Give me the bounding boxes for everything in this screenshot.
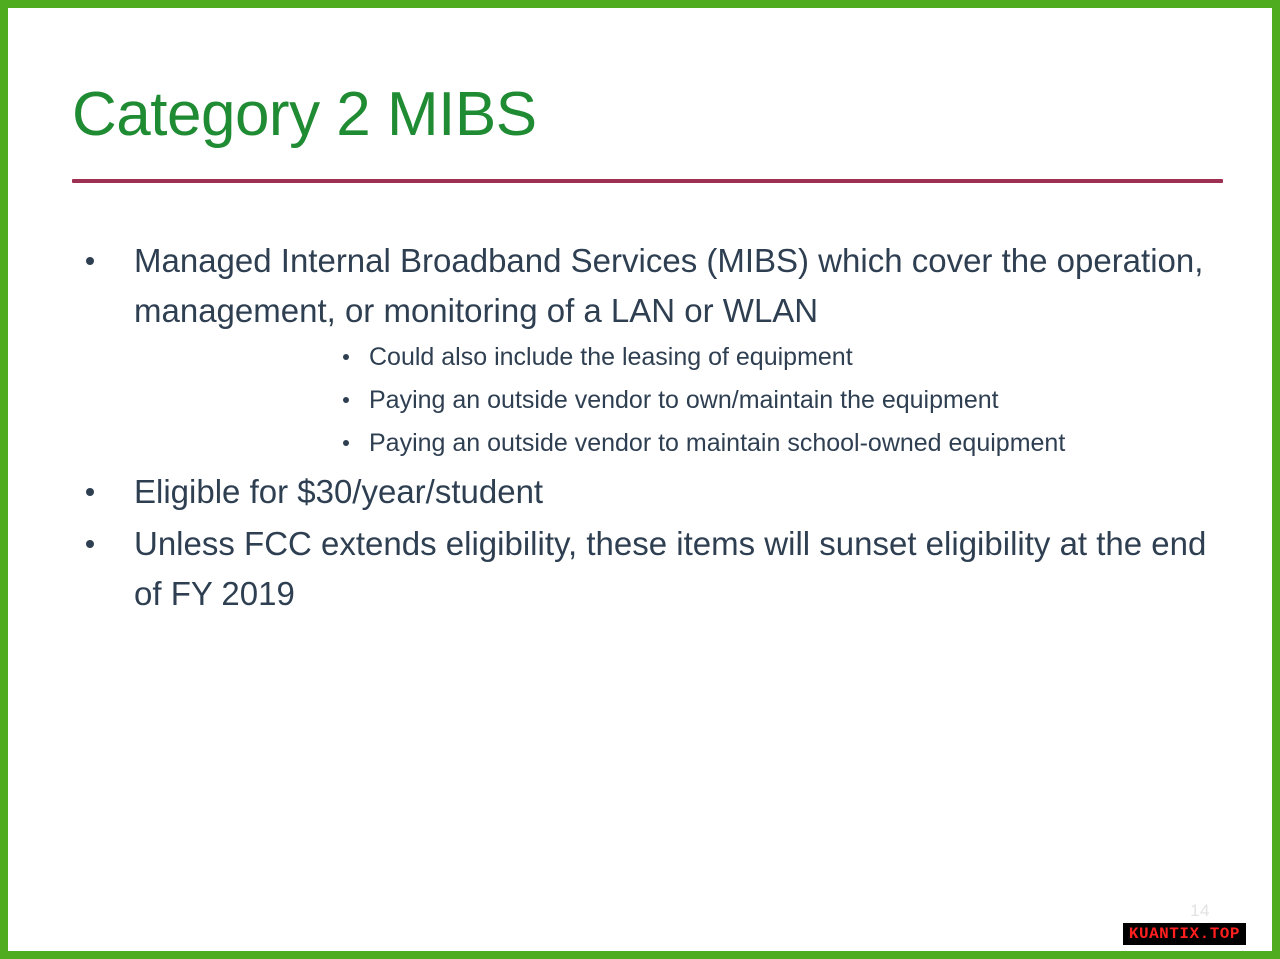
sub-bullet-text: Paying an outside vendor to maintain sch… <box>369 429 1065 457</box>
list-item: Managed Internal Broadband Services (MIB… <box>8 236 1272 465</box>
title-block: Category 2 MIBS <box>72 82 1224 147</box>
bullet-dot-icon <box>343 397 349 403</box>
bullet-dot-icon <box>343 440 349 446</box>
bullet-dot-icon <box>86 257 94 265</box>
slide-canvas: Category 2 MIBS Managed Internal Broadba… <box>8 8 1272 951</box>
page-number: 14 <box>1190 901 1210 921</box>
slide: Category 2 MIBS Managed Internal Broadba… <box>0 0 1280 959</box>
bullet-text: Managed Internal Broadband Services (MIB… <box>134 236 1272 336</box>
bullet-dot-icon <box>86 488 94 496</box>
page-title: Category 2 MIBS <box>72 82 1224 147</box>
title-divider <box>72 179 1223 183</box>
list-item: Paying an outside vendor to own/maintain… <box>134 379 1272 422</box>
bullet-text: Unless FCC extends eligibility, these it… <box>134 519 1272 619</box>
sub-bullet-text: Paying an outside vendor to own/maintain… <box>369 386 999 414</box>
sub-bullet-text: Could also include the leasing of equipm… <box>369 343 853 371</box>
bullet-text: Eligible for $30/year/student <box>134 467 1272 517</box>
sub-bullet-list: Could also include the leasing of equipm… <box>134 336 1272 465</box>
watermark-badge: KUANTIX.TOP <box>1123 923 1246 945</box>
list-item: Eligible for $30/year/student <box>8 467 1272 517</box>
bullet-dot-icon <box>86 540 94 548</box>
list-item: Paying an outside vendor to maintain sch… <box>134 422 1272 465</box>
slide-content: Managed Internal Broadband Services (MIB… <box>8 236 1272 621</box>
bullet-dot-icon <box>343 354 349 360</box>
bullet-list: Managed Internal Broadband Services (MIB… <box>8 236 1272 619</box>
list-item: Unless FCC extends eligibility, these it… <box>8 519 1272 619</box>
list-item: Could also include the leasing of equipm… <box>134 336 1272 379</box>
